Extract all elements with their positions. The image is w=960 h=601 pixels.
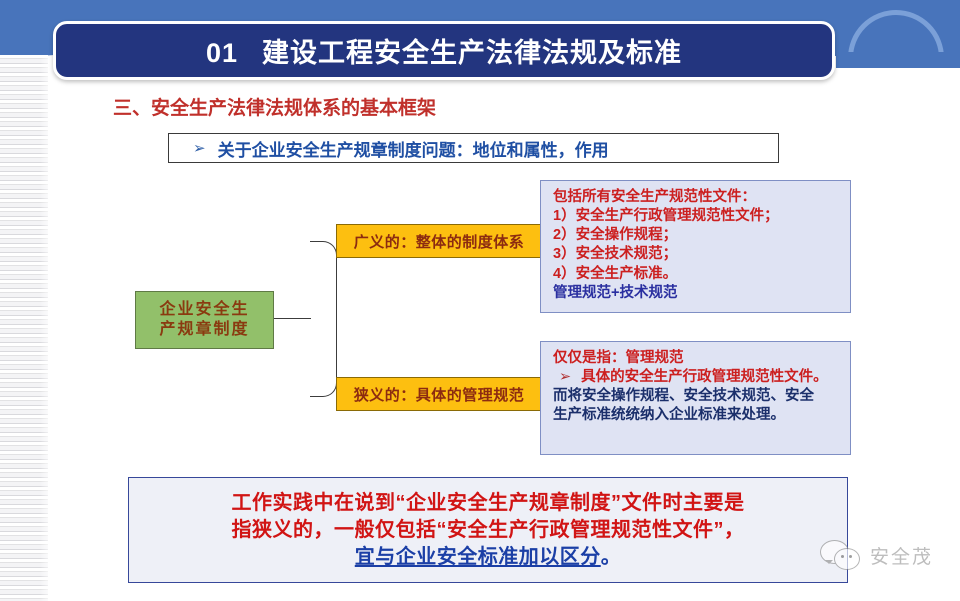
wechat-eye-right xyxy=(849,555,852,558)
header-banner: 01 建设工程安全生产法律法规及标准 xyxy=(53,21,835,80)
subtitle-text: 关于企业安全生产规章制度问题：地位和属性，作用 xyxy=(218,136,609,161)
detail-box-broad: 包括所有安全生产规范性文件： 1）安全生产行政管理规范性文件； 2）安全操作规程… xyxy=(540,180,851,313)
conclusion-box: 工作实践中在说到“企业安全生产规章制度”文件时主要是 指狭义的，一般仅包括“安全… xyxy=(128,477,848,583)
subtitle-box: ➢ 关于企业安全生产规章制度问题：地位和属性，作用 xyxy=(168,133,779,163)
detail-narrow-line-4: 生产标准统统纳入企业标准来处理。 xyxy=(553,406,840,425)
arrow-bullet-icon-2: ➢ xyxy=(559,369,571,385)
arc-mask xyxy=(836,52,960,68)
detail-broad-line-6: 管理规范+技术规范 xyxy=(553,284,840,303)
detail-broad-line-5: 4）安全生产标准。 xyxy=(553,265,840,284)
connector-stem xyxy=(274,318,311,319)
conclusion-line-1: 工作实践中在说到“企业安全生产规章制度”文件时主要是 xyxy=(232,490,745,517)
wechat-eye-left xyxy=(841,555,844,558)
slide-canvas: 01 建设工程安全生产法律法规及标准 三、安全生产法律法规体系的基本框架 ➢ 关… xyxy=(0,0,960,601)
diagram-root-node: 企业安全生 产规章制度 xyxy=(135,291,274,349)
header-number: 01 xyxy=(206,38,238,69)
section-heading: 三、安全生产法律法规体系的基本框架 xyxy=(113,93,436,120)
detail-narrow-line-1: 仅仅是指：管理规范 xyxy=(553,349,840,368)
connector-bracket xyxy=(310,241,337,397)
branch-node-narrow: 狭义的：具体的管理规范 xyxy=(336,377,542,411)
conclusion-line-3-suffix: 。 xyxy=(601,546,622,568)
top-right-arc-panel xyxy=(836,0,960,68)
watermark: 安全茂 xyxy=(820,540,933,570)
detail-broad-line-4: 3）安全技术规范； xyxy=(553,245,840,264)
branch-node-broad: 广义的：整体的制度体系 xyxy=(336,224,542,258)
detail-narrow-line-3: 而将安全操作规程、安全技术规范、安全 xyxy=(553,387,840,406)
wechat-icon xyxy=(820,540,862,570)
detail-narrow-line-2: 具体的安全生产行政管理规范性文件。 xyxy=(581,369,828,385)
detail-broad-line-2: 1）安全生产行政管理规范性文件； xyxy=(553,207,840,226)
detail-narrow-line-2-wrapper: ➢具体的安全生产行政管理规范性文件。 xyxy=(553,368,840,387)
left-stripe-fade xyxy=(40,55,54,601)
watermark-text: 安全茂 xyxy=(870,542,933,569)
arrow-bullet-icon: ➢ xyxy=(193,141,206,156)
detail-broad-line-1: 包括所有安全生产规范性文件： xyxy=(553,188,840,207)
detail-broad-line-3: 2）安全操作规程； xyxy=(553,226,840,245)
root-node-line-2: 产规章制度 xyxy=(159,320,249,340)
wechat-bubble-front xyxy=(834,548,860,570)
detail-box-narrow: 仅仅是指：管理规范 ➢具体的安全生产行政管理规范性文件。 而将安全操作规程、安全… xyxy=(540,341,851,455)
root-node-line-1: 企业安全生 xyxy=(159,300,249,320)
header-banner-content: 01 建设工程安全生产法律法规及标准 xyxy=(206,31,682,70)
conclusion-line-2: 指狭义的，一般仅包括“安全生产行政管理规范性文件”， xyxy=(232,517,745,544)
conclusion-line-3-wrapper: 宜与企业安全标准加以区分。 xyxy=(355,544,622,571)
page-title: 建设工程安全生产法律法规及标准 xyxy=(262,31,682,70)
conclusion-line-3: 宜与企业安全标准加以区分 xyxy=(355,546,601,568)
